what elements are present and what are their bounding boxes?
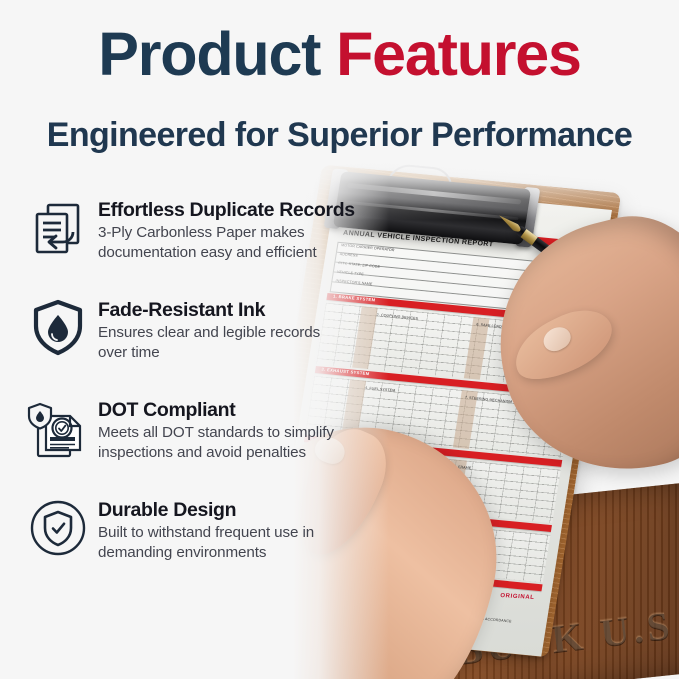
feature-description: Ensures clear and legible records over t… [98,323,338,363]
form-tan-column [352,306,378,369]
feature-description: Built to withstand frequent use in deman… [98,523,338,563]
feature-item: Durable Design Built to withstand freque… [22,496,352,596]
feature-description: Meets all DOT standards to simplify insp… [98,423,338,463]
clip-highlight [347,183,522,204]
feature-title: Durable Design [98,499,338,521]
feature-item: Fade-Resistant Ink Ensures clear and leg… [22,296,352,396]
feature-item: DOT Compliant Meets all DOT standards to… [22,396,352,496]
feature-title: Effortless Duplicate Records [98,199,355,221]
page-title-red: Features [336,20,581,88]
feature-text: Effortless Duplicate Records 3-Ply Carbo… [94,196,355,263]
feature-list: Effortless Duplicate Records 3-Ply Carbo… [22,196,352,596]
duplicate-documents-arrow-icon [22,196,94,268]
page-title-dark: Product [98,20,320,88]
clip-highlight [344,201,519,221]
page-title: Product Features [0,24,679,85]
shield-ink-drop-icon [22,296,94,368]
feature-description: 3-Ply Carbonless Paper makes documentati… [98,223,338,263]
page-subtitle: Engineered for Superior Performance [0,117,679,154]
feature-text: DOT Compliant Meets all DOT standards to… [94,396,338,463]
original-stamp: ORIGINAL [500,593,535,601]
feature-text: Durable Design Built to withstand freque… [94,496,338,563]
feature-text: Fade-Resistant Ink Ensures clear and leg… [94,296,338,363]
feature-title: Fade-Resistant Ink [98,299,338,321]
product-features-graphic: Product Features Engineered for Superior… [0,0,679,679]
circle-shield-check-icon [22,496,94,568]
feature-item: Effortless Duplicate Records 3-Ply Carbo… [22,196,352,296]
feature-title: DOT Compliant [98,399,338,421]
document-check-shield-icon [22,396,94,468]
